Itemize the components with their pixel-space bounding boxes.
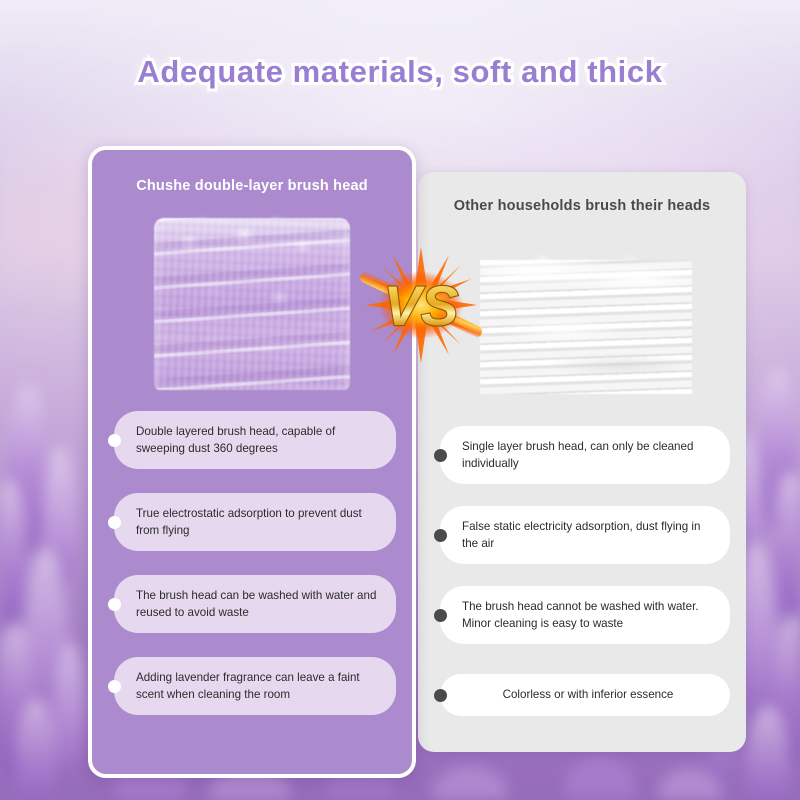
list-item: Colorless or with inferior essence bbox=[434, 668, 730, 722]
bullet-dot-icon bbox=[434, 689, 447, 702]
bullet-text: Double layered brush head, capable of sw… bbox=[114, 411, 396, 469]
bullet-text: Adding lavender fragrance can leave a fa… bbox=[114, 657, 396, 715]
right-bullet-list: Single layer brush head, can only be cle… bbox=[434, 428, 730, 748]
list-item: Single layer brush head, can only be cle… bbox=[434, 428, 730, 482]
list-item: The brush head cannot be washed with wat… bbox=[434, 588, 730, 642]
left-panel-header: Chushe double-layer brush head bbox=[92, 178, 412, 194]
list-item: Adding lavender fragrance can leave a fa… bbox=[108, 658, 396, 714]
comparison-panel-chushe: Chushe double-layer brush head Double la… bbox=[88, 146, 416, 778]
right-panel-header: Other households brush their heads bbox=[418, 198, 746, 214]
bullet-text: Colorless or with inferior essence bbox=[440, 674, 730, 715]
left-bullet-list: Double layered brush head, capable of sw… bbox=[108, 412, 396, 740]
list-item: The brush head can be washed with water … bbox=[108, 576, 396, 632]
page-title: Adequate materials, soft and thick bbox=[0, 54, 800, 90]
bullet-text: The brush head can be washed with water … bbox=[114, 575, 396, 633]
bullet-dot-icon bbox=[108, 598, 121, 611]
right-product-image bbox=[480, 260, 692, 394]
bullet-dot-icon bbox=[108, 434, 121, 447]
list-item: Double layered brush head, capable of sw… bbox=[108, 412, 396, 468]
bullet-dot-icon bbox=[434, 609, 447, 622]
bullet-text: Single layer brush head, can only be cle… bbox=[440, 426, 730, 484]
left-product-image bbox=[154, 218, 350, 390]
list-item: False static electricity adsorption, dus… bbox=[434, 508, 730, 562]
bullet-text: The brush head cannot be washed with wat… bbox=[440, 586, 730, 644]
bullet-text: False static electricity adsorption, dus… bbox=[440, 506, 730, 564]
infographic-stage: Adequate materials, soft and thick Other… bbox=[0, 0, 800, 800]
list-item: True electrostatic adsorption to prevent… bbox=[108, 494, 396, 550]
bullet-dot-icon bbox=[434, 529, 447, 542]
bullet-dot-icon bbox=[108, 516, 121, 529]
bullet-dot-icon bbox=[434, 449, 447, 462]
bullet-dot-icon bbox=[108, 680, 121, 693]
comparison-panel-other: Other households brush their heads Singl… bbox=[418, 172, 746, 752]
bullet-text: True electrostatic adsorption to prevent… bbox=[114, 493, 396, 551]
